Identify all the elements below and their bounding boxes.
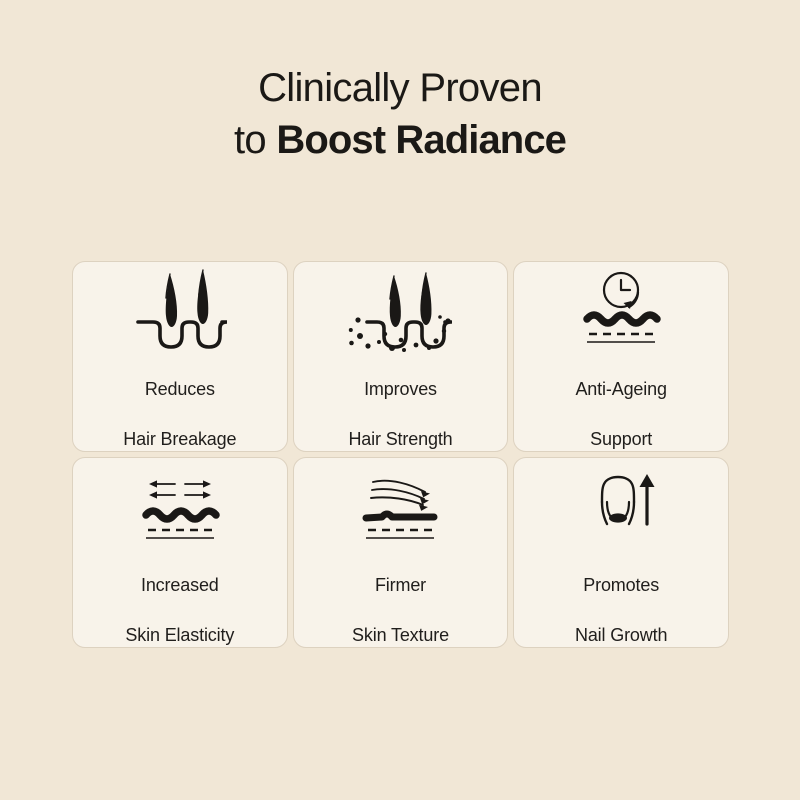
benefit-label-line-2: Skin Texture (352, 625, 449, 645)
benefit-label-line-2: Hair Strength (348, 429, 452, 449)
hair-follicle-nutrients-icon (294, 262, 508, 352)
benefit-label: Firmer Skin Texture (346, 548, 455, 648)
headline-line-2-emphasis: Boost Radiance (276, 118, 566, 162)
hair-follicle-icon (73, 262, 287, 352)
benefit-card-anti-ageing-support[interactable]: Anti-Ageing Support (513, 261, 729, 452)
benefit-label-line-1: Improves (364, 379, 437, 399)
benefit-label-line-2: Skin Elasticity (125, 625, 234, 645)
clock-skin-layers-icon (514, 262, 728, 352)
benefit-label-line-2: Hair Breakage (123, 429, 236, 449)
stretch-arrows-skin-icon (73, 458, 287, 548)
benefit-card-promotes-nail-growth[interactable]: Promotes Nail Growth (513, 457, 729, 648)
headline-line-2: to Boost Radiance (0, 114, 800, 166)
nail-growth-arrow-icon (514, 458, 728, 548)
benefit-card-improves-hair-strength[interactable]: Improves Hair Strength (293, 261, 509, 452)
benefit-label: Improves Hair Strength (342, 352, 458, 452)
benefit-label: Anti-Ageing Support (569, 352, 672, 452)
headline-line-1: Clinically Proven (0, 62, 800, 114)
benefit-label-line-2: Support (590, 429, 652, 449)
page-title: Clinically Proven to Boost Radiance (0, 62, 800, 166)
benefit-label-line-1: Reduces (145, 379, 215, 399)
benefit-label-line-1: Firmer (375, 575, 426, 595)
benefit-card-increased-skin-elasticity[interactable]: Increased Skin Elasticity (72, 457, 288, 648)
promo-graphic: Clinically Proven to Boost Radiance (0, 0, 800, 800)
benefit-card-reduces-hair-breakage[interactable]: Reduces Hair Breakage (72, 261, 288, 452)
benefit-label-line-1: Promotes (583, 575, 659, 595)
benefits-grid: Reduces Hair Breakage (72, 261, 729, 648)
benefit-label-line-2: Nail Growth (575, 625, 667, 645)
benefit-label-line-1: Anti-Ageing (575, 379, 666, 399)
benefit-card-firmer-skin-texture[interactable]: Firmer Skin Texture (293, 457, 509, 648)
benefit-label: Promotes Nail Growth (569, 548, 673, 648)
benefit-label-line-1: Increased (141, 575, 219, 595)
headline-line-2-prefix: to (234, 118, 276, 162)
smoothing-arrows-skin-icon (294, 458, 508, 548)
benefit-label: Reduces Hair Breakage (117, 352, 242, 452)
benefit-label: Increased Skin Elasticity (119, 548, 240, 648)
